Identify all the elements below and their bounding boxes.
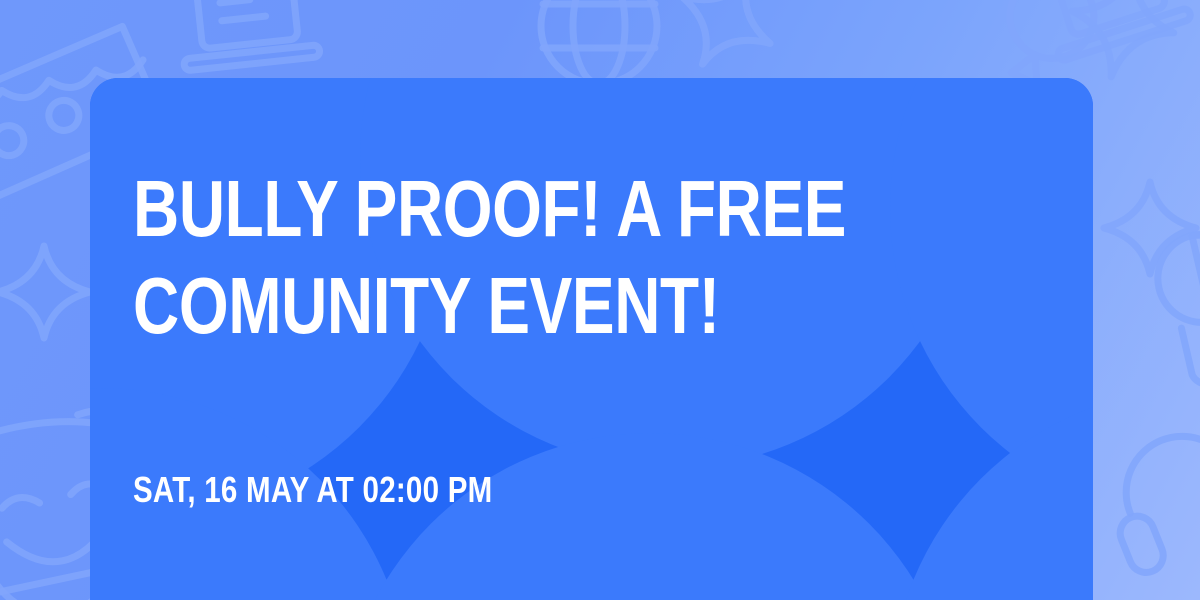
- event-card[interactable]: BULLY PROOF! A FREE COMUNITY EVENT! SAT,…: [90, 78, 1093, 600]
- event-datetime: SAT, 16 MAY AT 02:00 PM: [133, 468, 492, 512]
- laptop-icon: [1040, 0, 1190, 66]
- laptop-icon: [178, 0, 318, 76]
- event-title: BULLY PROOF! A FREE COMUNITY EVENT!: [133, 160, 846, 354]
- sparkle-icon: [666, 0, 786, 80]
- sparkle-icon: [1058, 0, 1188, 86]
- microphone-icon: [1090, 392, 1200, 600]
- microphone-icon: [1100, 228, 1200, 428]
- card-content: BULLY PROOF! A FREE COMUNITY EVENT! SAT,…: [133, 78, 1053, 600]
- sparkle-icon: [1090, 168, 1200, 288]
- event-banner: BULLY PROOF! A FREE COMUNITY EVENT! SAT,…: [0, 0, 1200, 600]
- sparkle-small-icon: [0, 232, 104, 352]
